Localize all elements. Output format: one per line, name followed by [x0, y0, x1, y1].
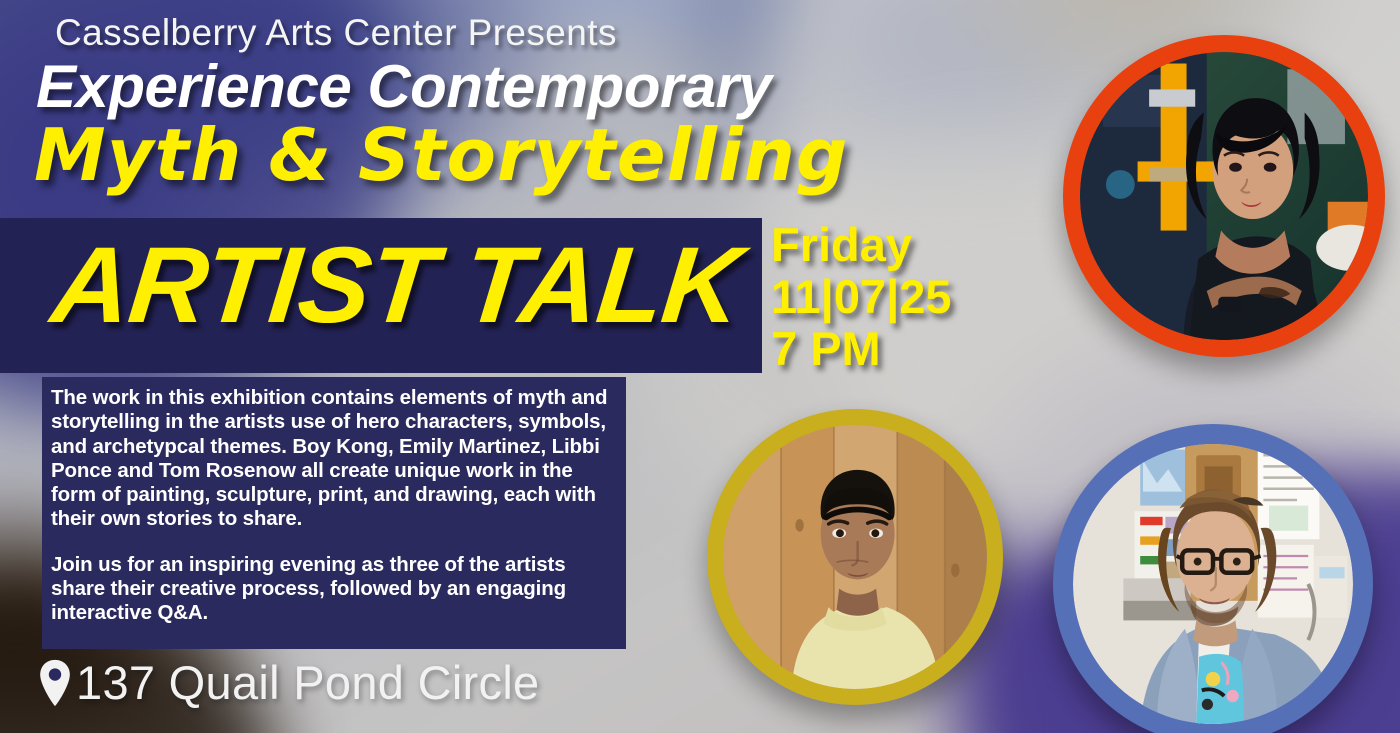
event-title: ARTIST TALK — [46, 222, 746, 347]
venue-address-line: 137 Quail Pond Circle — [38, 655, 540, 710]
organization-line: Casselberry Arts Center Presents — [55, 12, 617, 54]
event-date: 11|07|25 — [771, 271, 952, 323]
artist-portrait-emily-martinez: EMILY MARTINEZ — [1063, 35, 1385, 357]
artist-portrait-tom-rosenow: TOM ROSENOW — [1053, 424, 1373, 733]
event-schedule: Friday 11|07|25 7 PM — [771, 219, 952, 375]
description-box: The work in this exhibition contains ele… — [42, 377, 626, 649]
map-pin-icon — [38, 659, 72, 707]
artist-portrait-boy-kong: BOY KONG — [707, 409, 1003, 705]
portrait-photo-emily-martinez — [1080, 52, 1368, 340]
headline: Experience Contemporary — [36, 52, 771, 121]
event-title-banner: ARTIST TALK — [0, 218, 762, 373]
event-day: Friday — [771, 219, 952, 271]
description-paragraph-1: The work in this exhibition contains ele… — [51, 386, 612, 532]
description-paragraph-2: Join us for an inspiring evening as thre… — [51, 553, 612, 626]
portrait-photo-boy-kong — [723, 425, 987, 689]
event-time: 7 PM — [771, 323, 952, 375]
subheadline: Myth & Storytelling — [34, 113, 848, 197]
event-poster: Casselberry Arts Center Presents Experie… — [0, 0, 1400, 733]
portrait-photo-tom-rosenow — [1073, 444, 1353, 724]
venue-address-text: 137 Quail Pond Circle — [76, 655, 540, 710]
